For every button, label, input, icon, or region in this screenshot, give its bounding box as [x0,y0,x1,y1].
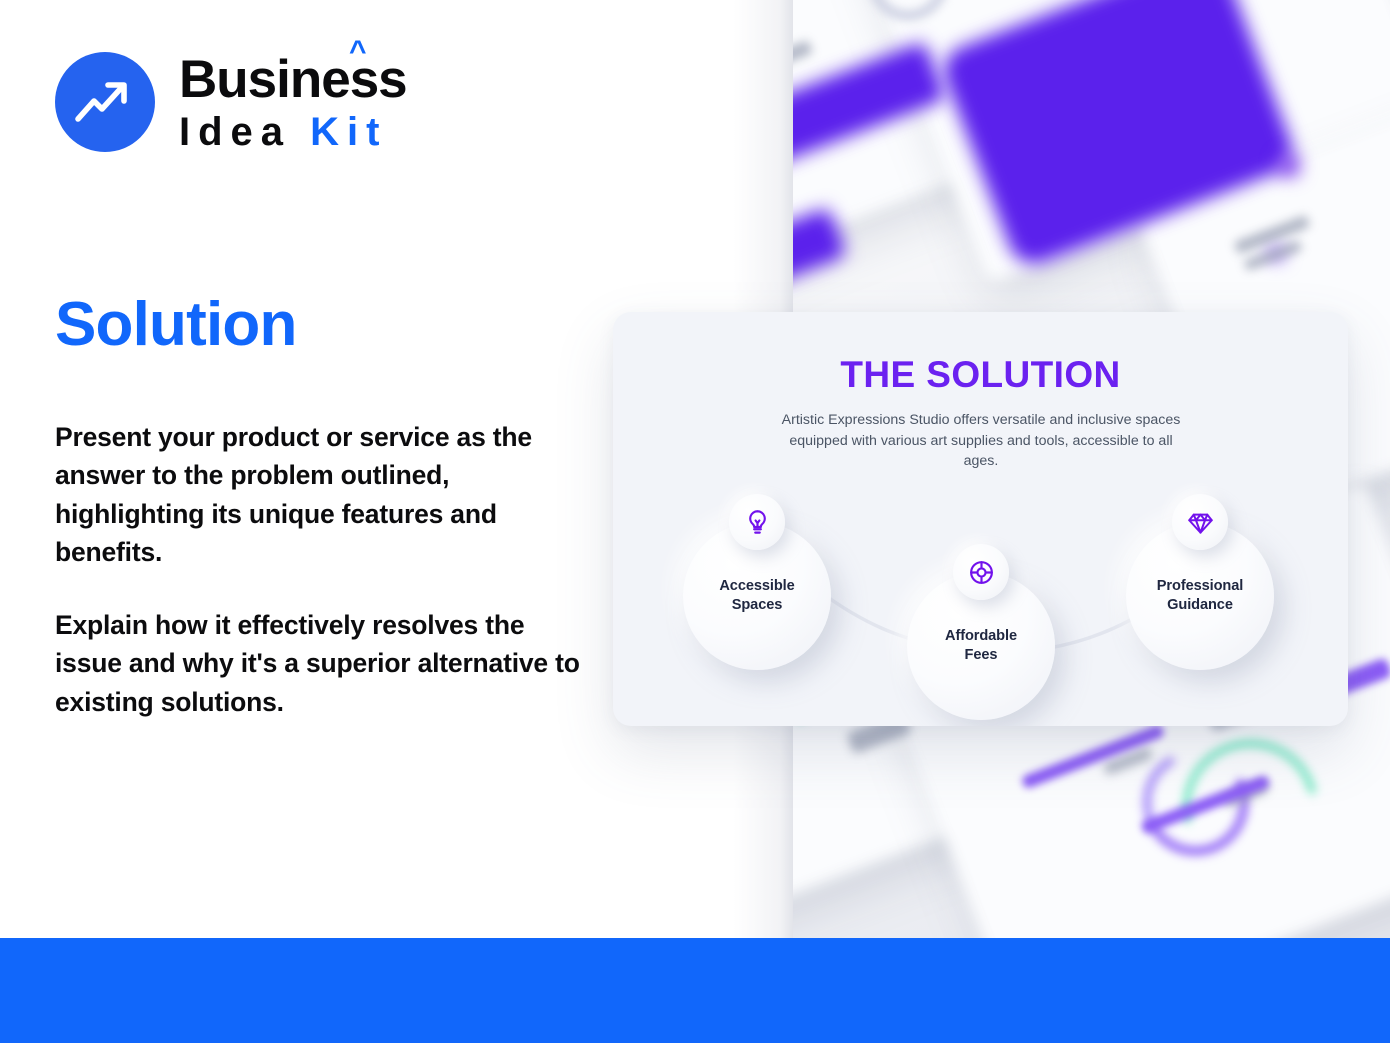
feature-node-label: Affordable Fees [945,627,1017,665]
card-subtitle: Artistic Expressions Studio offers versa… [781,410,1181,472]
growth-arrow-icon [55,52,155,152]
lifebuoy-icon [953,544,1009,600]
solution-card: THE SOLUTION Artistic Expressions Studio… [613,312,1348,726]
body-paragraph-1: Present your product or service as the a… [55,418,595,572]
feature-label-line2: Fees [945,646,1017,665]
feature-label-line1: Professional [1157,577,1243,596]
blurred-purple-dot [1278,155,1300,177]
feature-label-line2: Spaces [719,596,794,615]
circumflex-accent-icon: ^ [349,37,366,67]
brand-logo: Business ^ Idea Kit [55,52,407,152]
brand-name-line1: Business ^ [179,53,407,106]
feature-node-group: Accessible Spaces [613,472,1348,726]
page-title: Solution [55,294,297,356]
feature-label-line2: Guidance [1157,596,1243,615]
feature-node-label: Professional Guidance [1157,577,1243,615]
lightbulb-icon [729,494,785,550]
slide-root: Business ^ Idea Kit Solution Present you… [0,0,1390,1043]
card-title: THE SOLUTION [613,354,1348,396]
body-paragraph-2: Explain how it effectively resolves the … [55,606,595,721]
feature-label-line1: Accessible [719,577,794,596]
brand-name-line2: Idea Kit [179,112,407,152]
feature-node-label: Accessible Spaces [719,577,794,615]
brand-wordmark: Business ^ Idea Kit [179,53,407,152]
brand-name-kit: Kit [310,112,387,152]
diamond-icon [1172,494,1228,550]
footer-bar [0,938,1390,1043]
body-copy: Present your product or service as the a… [55,418,595,721]
feature-label-line1: Affordable [945,627,1017,646]
brand-name-business: Business [179,50,407,109]
brand-name-idea: Idea [179,112,291,152]
